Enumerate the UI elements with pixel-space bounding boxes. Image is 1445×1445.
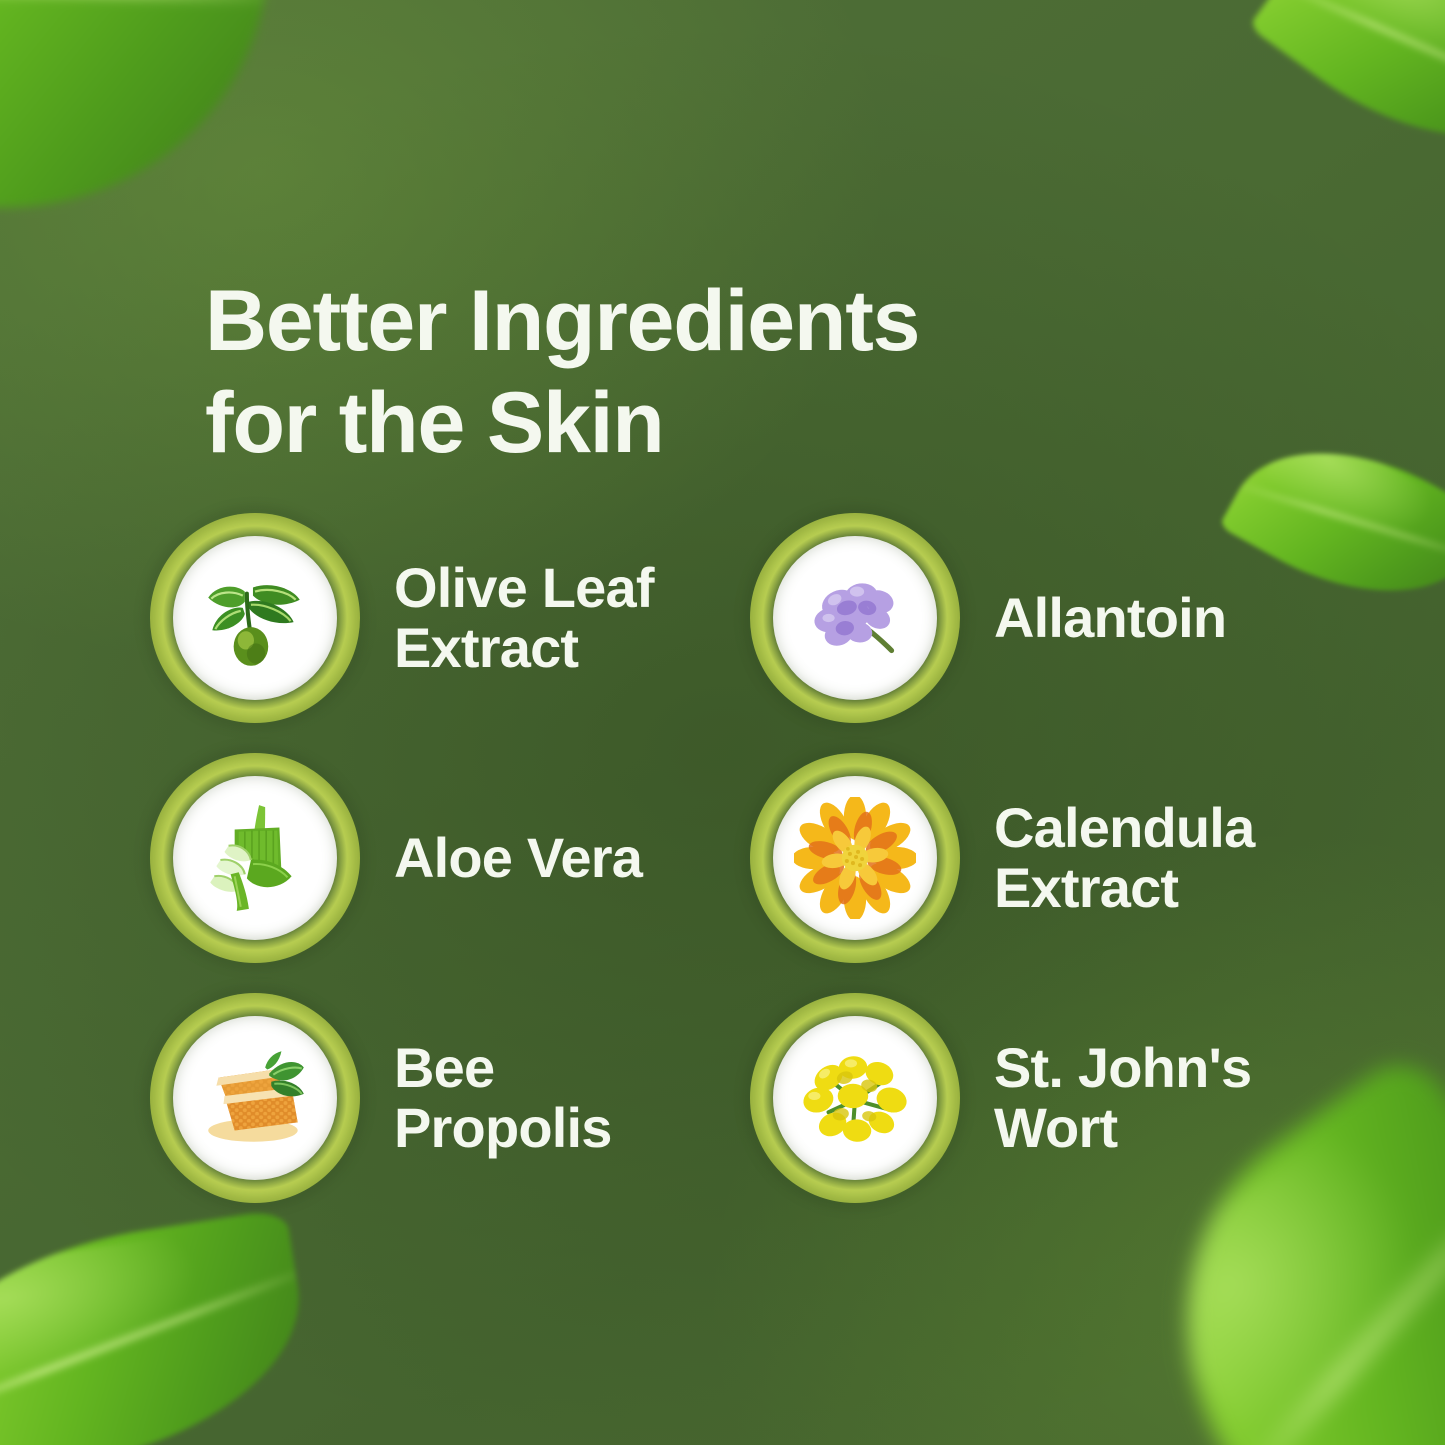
ingredient-label: Bee Propolis [394, 1038, 612, 1159]
ingredient-badge [150, 993, 360, 1203]
badge-disc [773, 776, 937, 940]
aloe-vera-icon [194, 797, 316, 919]
ingredient-item-aloe-vera: Aloe Vera [150, 752, 710, 964]
ingredient-item-allantoin: Allantoin [750, 512, 1310, 724]
badge-disc [173, 536, 337, 700]
ingredient-badge [150, 753, 360, 963]
badge-disc [173, 1016, 337, 1180]
ingredient-grid: Olive Leaf Extract [150, 512, 1310, 1204]
ingredient-label: Aloe Vera [394, 828, 642, 888]
badge-disc [173, 776, 337, 940]
purple-flower-icon [794, 557, 916, 679]
ingredient-item-bee-propolis: Bee Propolis [150, 992, 710, 1204]
honeycomb-icon [194, 1037, 316, 1159]
ingredient-label: St. John's Wort [994, 1038, 1251, 1159]
ingredient-label: Allantoin [994, 588, 1226, 648]
badge-disc [773, 1016, 937, 1180]
ingredient-badge [150, 513, 360, 723]
ingredient-item-st-johns-wort: St. John's Wort [750, 992, 1310, 1204]
badge-disc [773, 536, 937, 700]
ingredient-label: Calendula Extract [994, 798, 1254, 919]
ingredient-item-calendula-extract: Calendula Extract [750, 752, 1310, 964]
ingredients-infographic: Better Ingredients for the Skin [0, 0, 1445, 1445]
ingredient-badge [750, 993, 960, 1203]
ingredient-badge [750, 513, 960, 723]
marigold-flower-icon [794, 797, 916, 919]
olive-branch-icon [194, 557, 316, 679]
ingredient-badge [750, 753, 960, 963]
page-title: Better Ingredients for the Skin [205, 270, 1165, 475]
ingredient-label: Olive Leaf Extract [394, 558, 654, 679]
ingredient-item-olive-leaf-extract: Olive Leaf Extract [150, 512, 710, 724]
yellow-flower-icon [794, 1037, 916, 1159]
